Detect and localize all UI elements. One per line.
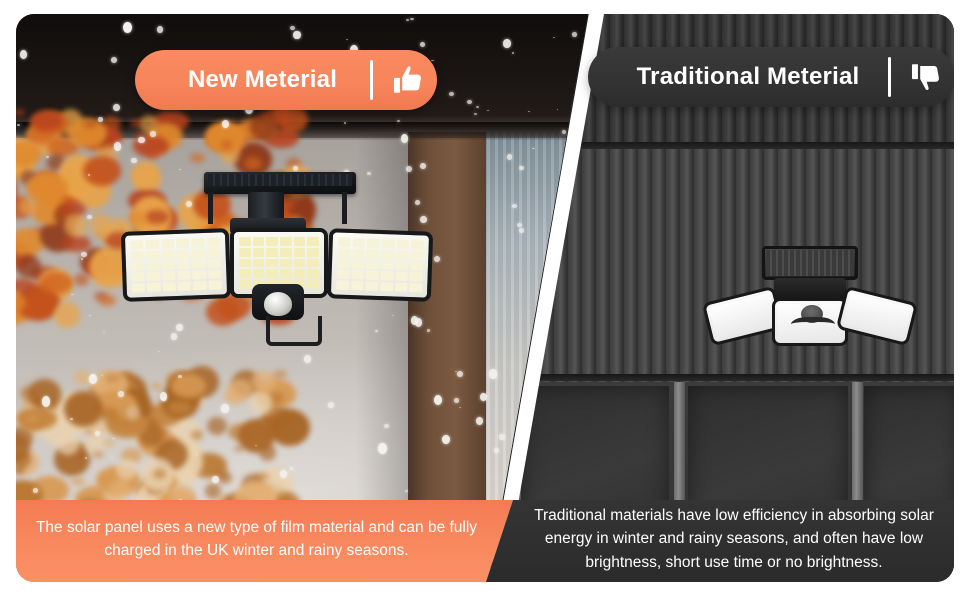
- snowflake: [397, 120, 400, 122]
- solar-led-light-color: [116, 172, 436, 362]
- snowflake: [196, 454, 198, 455]
- led-dot: [367, 239, 380, 248]
- snowflake: [112, 438, 114, 440]
- led-dot: [337, 259, 350, 268]
- fixture-body-gray: [774, 278, 846, 300]
- snowflake: [178, 375, 182, 378]
- led-dot: [208, 281, 222, 290]
- snowflake: [532, 148, 534, 149]
- led-grid-center: [239, 237, 319, 289]
- snowflake: [503, 39, 510, 48]
- led-dot: [280, 259, 292, 268]
- snowflake: [89, 315, 91, 316]
- badge-divider-line: [370, 60, 373, 100]
- snowflake: [81, 252, 86, 257]
- snowflake: [101, 375, 103, 376]
- led-dot: [307, 248, 319, 257]
- snowflake: [517, 223, 522, 227]
- snowflake: [476, 417, 483, 425]
- led-dot: [382, 239, 395, 248]
- solar-led-light-grayscale: [704, 246, 914, 376]
- led-dot: [307, 269, 319, 278]
- led-dot: [177, 271, 191, 280]
- led-dot: [411, 251, 424, 260]
- badge-traditional-material[interactable]: Traditional Meterial: [588, 47, 954, 107]
- snowflake: [290, 467, 293, 469]
- snowflake: [293, 166, 298, 171]
- snowflake: [118, 391, 124, 396]
- badge-new-material-label: New Meterial: [161, 66, 364, 94]
- snowflake: [572, 32, 577, 37]
- snowflake: [449, 92, 454, 96]
- thumbs-down-icon: [907, 60, 947, 94]
- snowflake: [81, 258, 83, 260]
- solar-panel-cells-gray: [766, 250, 854, 276]
- snowflake: [494, 448, 499, 453]
- led-dot: [130, 251, 144, 260]
- led-dot: [396, 250, 409, 259]
- snowflake: [111, 458, 113, 459]
- mounting-bracket: [266, 316, 322, 346]
- led-dot: [253, 269, 265, 278]
- led-panel-left: [121, 228, 231, 302]
- led-dot: [336, 270, 349, 279]
- led-surface-right-gray: [843, 293, 911, 339]
- led-dot: [131, 272, 145, 281]
- snowflake: [111, 57, 117, 63]
- snowflake: [378, 443, 386, 454]
- snowflake: [553, 37, 555, 38]
- led-surface-left-gray: [709, 293, 777, 339]
- led-dot: [207, 259, 221, 268]
- led-dot: [395, 272, 408, 281]
- led-dot: [351, 281, 364, 290]
- snowflake: [489, 369, 497, 379]
- badge-new-material[interactable]: New Meterial: [135, 50, 437, 110]
- led-dot: [145, 240, 159, 249]
- snowflake: [157, 26, 163, 33]
- led-dot: [352, 249, 365, 258]
- snowflake: [512, 204, 517, 208]
- snowflake: [467, 100, 472, 104]
- snowflake: [114, 142, 121, 150]
- comparison-card: New Meterial Traditional Meterial The s: [0, 0, 970, 600]
- led-dot: [380, 271, 393, 280]
- led-dot: [365, 282, 378, 291]
- snowflake: [410, 18, 414, 21]
- snowflake: [420, 42, 425, 47]
- snowflake: [499, 434, 505, 439]
- solar-panel-cells: [208, 174, 352, 186]
- led-grid-left: [130, 237, 222, 292]
- badge-divider-line: [888, 57, 891, 97]
- led-panel-right-gray: [836, 286, 918, 347]
- led-dot: [178, 282, 192, 291]
- snowflake: [512, 52, 515, 54]
- snowflake: [113, 104, 119, 111]
- led-dot: [191, 238, 205, 247]
- snowflake: [88, 174, 90, 175]
- led-dot: [366, 260, 379, 269]
- snowflake: [384, 424, 388, 428]
- led-dot: [280, 269, 292, 278]
- led-dot: [239, 259, 251, 268]
- led-dot: [294, 248, 306, 257]
- led-dot: [351, 270, 364, 279]
- snowflake: [222, 120, 229, 128]
- led-dot: [294, 237, 306, 246]
- led-dot: [192, 249, 206, 258]
- snowflake: [89, 374, 97, 384]
- led-dot: [147, 283, 161, 292]
- led-dot: [381, 261, 394, 270]
- led-dot: [307, 280, 319, 289]
- snowflake: [162, 397, 167, 401]
- snowflake: [454, 398, 459, 403]
- led-dot: [294, 259, 306, 268]
- snowflake: [346, 39, 348, 40]
- snowflake: [71, 294, 74, 296]
- led-dot: [193, 281, 207, 290]
- snowflake: [42, 396, 50, 406]
- snowflake: [480, 393, 487, 402]
- snowflake: [98, 117, 103, 122]
- snowflake: [87, 215, 92, 219]
- led-dot: [161, 239, 175, 248]
- snowflake: [557, 109, 559, 110]
- led-dot: [146, 250, 160, 259]
- led-dot: [410, 262, 423, 271]
- led-dot: [239, 280, 251, 289]
- led-dot: [366, 271, 379, 280]
- snowflake: [474, 113, 477, 115]
- led-dot: [147, 272, 161, 281]
- led-dot: [337, 248, 350, 257]
- led-dot: [162, 271, 176, 280]
- snowflake: [328, 402, 334, 408]
- led-dot: [352, 260, 365, 269]
- led-dot: [381, 250, 394, 259]
- led-dot: [338, 238, 351, 247]
- led-panel-right: [327, 228, 433, 302]
- snowflake: [85, 457, 87, 458]
- led-dot: [396, 240, 409, 249]
- snowflake: [17, 124, 20, 126]
- led-dot: [380, 282, 393, 291]
- led-dot: [336, 281, 349, 290]
- led-dot: [176, 249, 190, 258]
- snowflake: [431, 60, 433, 61]
- snowflake: [150, 131, 156, 136]
- card-inner: New Meterial Traditional Meterial The s: [16, 14, 954, 582]
- snowflake: [179, 499, 181, 500]
- snowflake: [212, 476, 219, 484]
- led-dot: [266, 237, 278, 246]
- fixture-arm-right: [342, 192, 347, 224]
- snowflake: [405, 490, 408, 492]
- snowflake: [95, 431, 100, 436]
- motion-sensor-dome: [264, 292, 292, 316]
- snowflake: [123, 22, 131, 33]
- led-dot: [162, 261, 176, 270]
- led-dot: [266, 259, 278, 268]
- led-dot: [395, 283, 408, 292]
- led-dot: [280, 237, 292, 246]
- snowflake: [221, 404, 228, 412]
- led-dot: [307, 237, 319, 246]
- badge-traditional-material-label: Traditional Meterial: [614, 63, 882, 91]
- snowflake: [562, 130, 566, 133]
- snowflake: [179, 169, 181, 170]
- snowflake: [406, 19, 409, 21]
- snowflake: [457, 371, 463, 377]
- snowflake: [46, 156, 48, 157]
- snowflake: [293, 31, 300, 40]
- snowflake: [476, 106, 479, 108]
- fixture-neck: [248, 192, 284, 220]
- led-dot: [253, 248, 265, 257]
- led-dot: [192, 260, 206, 269]
- snowflake: [459, 407, 461, 408]
- led-dot: [239, 248, 251, 257]
- led-dot: [176, 239, 190, 248]
- led-dot: [410, 272, 423, 281]
- led-dot: [253, 237, 265, 246]
- led-dot: [367, 249, 380, 258]
- led-dot: [208, 270, 222, 279]
- snowflake: [255, 445, 257, 446]
- snowflake: [519, 166, 524, 171]
- snowflake: [434, 395, 442, 405]
- snowflake: [487, 110, 489, 111]
- snowflake: [33, 488, 38, 493]
- snowflake: [519, 228, 524, 233]
- snowflake: [455, 371, 457, 372]
- snowflake: [280, 470, 287, 478]
- led-dot: [207, 237, 221, 246]
- led-dot: [161, 250, 175, 259]
- motion-sensor-shade-gray: [791, 317, 835, 335]
- snowflake: [344, 122, 346, 123]
- fixture-arm-left: [208, 192, 213, 224]
- led-dot: [294, 269, 306, 278]
- snowflake: [138, 137, 144, 144]
- caption-new-material: The solar panel uses a new type of film …: [16, 500, 513, 582]
- snowflake: [290, 26, 295, 30]
- led-dot: [130, 240, 144, 249]
- snowflake: [507, 154, 513, 159]
- snowflake: [20, 50, 27, 59]
- snowflake: [16, 14, 18, 15]
- snowflake: [103, 332, 105, 333]
- led-grid-right: [336, 238, 424, 293]
- led-dot: [132, 283, 146, 292]
- caption-traditional-material: Traditional materials have low efficienc…: [486, 500, 954, 582]
- thumbs-up-icon: [389, 63, 429, 97]
- led-dot: [411, 240, 424, 249]
- snowflake: [401, 134, 409, 143]
- led-dot: [131, 262, 145, 271]
- led-dot: [162, 282, 176, 291]
- led-dot: [239, 237, 251, 246]
- led-dot: [239, 269, 251, 278]
- led-dot: [280, 248, 292, 257]
- led-dot: [207, 248, 221, 257]
- snowflake: [442, 435, 450, 445]
- led-dot: [193, 270, 207, 279]
- led-dot: [409, 283, 422, 292]
- led-dot: [307, 259, 319, 268]
- led-dot: [352, 238, 365, 247]
- led-dot: [266, 269, 278, 278]
- led-dot: [146, 261, 160, 270]
- snowflake: [70, 418, 73, 420]
- snowflake: [528, 111, 530, 112]
- caption-traditional-material-text: Traditional materials have low efficienc…: [514, 504, 954, 574]
- snowflake: [420, 163, 426, 169]
- led-dot: [395, 261, 408, 270]
- led-dot: [266, 248, 278, 257]
- led-dot: [253, 259, 265, 268]
- snowflake: [131, 158, 136, 163]
- caption-new-material-text: The solar panel uses a new type of film …: [22, 516, 491, 563]
- led-dot: [177, 260, 191, 269]
